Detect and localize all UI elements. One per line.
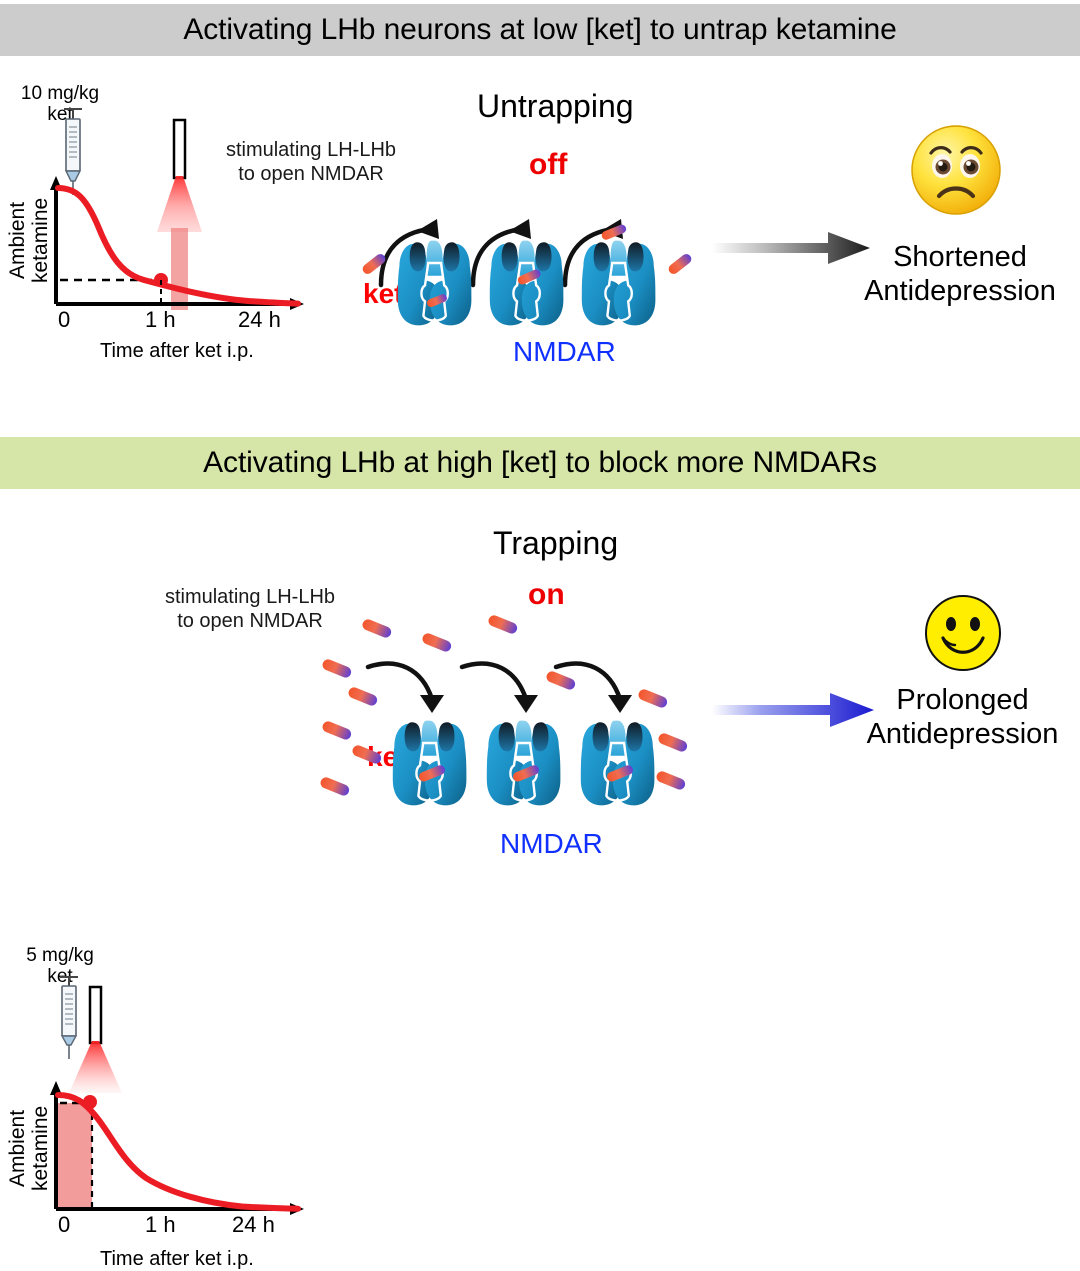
panel-trapping: Activating LHb at high [ket] to block mo… [0, 425, 1080, 860]
chart-bottom-ketamine-decay: 5 mg/kg ket [0, 945, 330, 1245]
y-axis-label-bottom: Ambient ketamine [6, 1083, 52, 1213]
banner-trapping-title: Activating LHb at high [ket] to block mo… [203, 446, 877, 480]
banner-untrapping-title: Activating LHb neurons at low [ket] to u… [183, 13, 896, 47]
x-tick-1h-top: 1 h [145, 307, 176, 333]
panel-untrapping: Activating LHb neurons at low [ket] to u… [0, 0, 1080, 425]
mid-title-untrapping: Untrapping [477, 88, 634, 125]
mid-title-trapping: Trapping [493, 525, 618, 562]
chart-top-ketamine-decay: 10 mg/kg ket [0, 75, 330, 365]
untrapping-scene [355, 175, 695, 335]
nmdar-label-top: NMDAR [513, 336, 616, 368]
outcome-top: Shortened Antidepression [845, 240, 1075, 308]
y-axis-label-top: Ambient ketamine [6, 175, 52, 305]
happy-face-icon [923, 593, 1003, 673]
mid-state-on: on [528, 578, 565, 612]
ket-molecule [667, 252, 694, 276]
banner-trapping: Activating LHb at high [ket] to block mo… [0, 437, 1080, 489]
plot-area-top [20, 170, 310, 310]
plot-area-bottom [20, 1075, 310, 1215]
x-tick-24h-top: 24 h [238, 307, 281, 333]
x-tick-0-bottom: 0 [58, 1212, 70, 1238]
outcome-bottom: Prolonged Antidepression [845, 683, 1080, 751]
trapping-scene [340, 615, 700, 830]
x-tick-24h-bottom: 24 h [232, 1212, 275, 1238]
stim-note-bottom: stimulating LH-LHb to open NMDAR [130, 585, 370, 633]
x-tick-0-top: 0 [58, 307, 70, 333]
x-tick-1h-bottom: 1 h [145, 1212, 176, 1238]
banner-untrapping: Activating LHb neurons at low [ket] to u… [0, 4, 1080, 56]
x-axis-title-top: Time after ket i.p. [100, 340, 254, 363]
nmdar-label-bottom: NMDAR [500, 828, 603, 860]
sad-face-icon [908, 122, 1004, 218]
x-axis-title-bottom: Time after ket i.p. [100, 1248, 254, 1271]
